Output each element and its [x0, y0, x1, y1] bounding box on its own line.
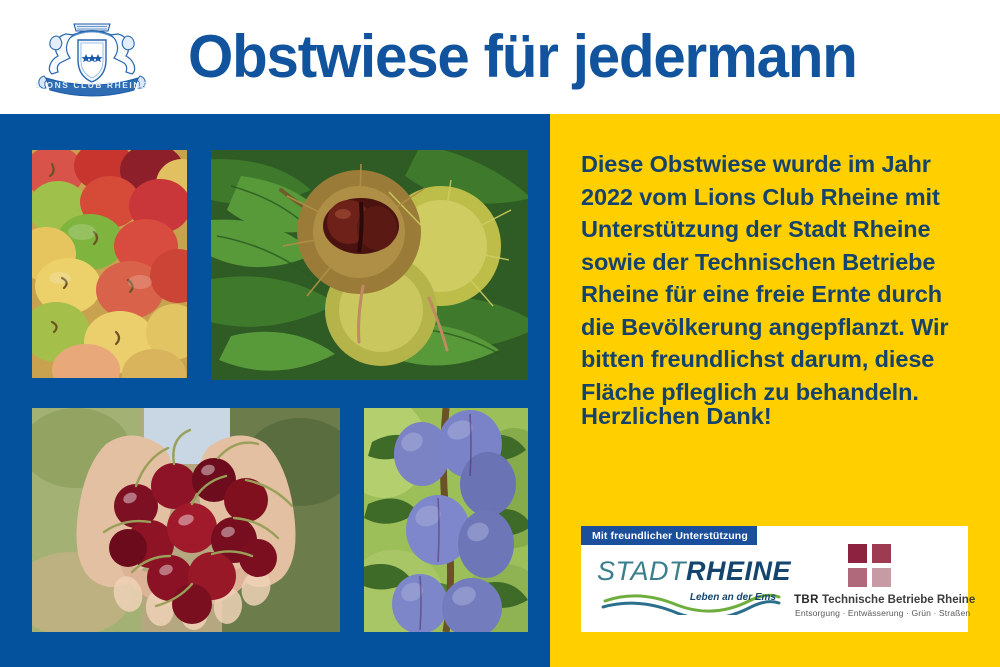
photo-plums: [364, 408, 528, 632]
notice-text: Diese Obstwiese wurde im Jahr 2022 vom L…: [581, 148, 949, 408]
tbr-logo[interactable]: TBR Technische Betriebe Rheine Entsorgun…: [794, 544, 964, 619]
tbr-abbr: TBR: [794, 594, 819, 606]
photo-apples: [32, 150, 187, 378]
four-squares-icon: [848, 544, 892, 588]
tbr-name-line: TBR Technische Betriebe Rheine: [794, 594, 975, 606]
square-top-left: [848, 544, 867, 563]
tbr-subtitle: Entsorgung · Entwässerung · Grün · Straß…: [795, 608, 970, 618]
photo-chestnut: [211, 150, 528, 380]
stadt-word-stadt: STADT: [597, 556, 686, 586]
sponsor-tag-label: Mit freundlicher Unterstützung: [581, 526, 757, 545]
square-top-right: [872, 544, 891, 563]
sponsor-box: Mit freundlicher Unterstützung STADTRHEI…: [581, 526, 968, 632]
thanks-text: Herzlichen Dank!: [581, 400, 772, 433]
stadt-word-rheine: RHEINE: [686, 556, 791, 586]
tbr-full-name: Technische Betriebe Rheine: [822, 594, 975, 606]
lions-club-crest-icon: LIONS CLUB RHEINE: [22, 14, 162, 102]
square-bottom-right: [872, 568, 891, 587]
stadt-rheine-logo[interactable]: STADTRHEINE Leben an der Ems: [597, 554, 782, 616]
stadt-rheine-wordmark: STADTRHEINE: [597, 556, 791, 587]
poster-header: LIONS CLUB RHEINE Obstwiese für jederman…: [0, 0, 1000, 114]
stadt-rheine-tagline: Leben an der Ems: [690, 592, 776, 603]
square-bottom-left: [848, 568, 867, 587]
crest-ribbon-text: LIONS CLUB RHEINE: [36, 80, 148, 90]
poster: LIONS CLUB RHEINE Obstwiese für jederman…: [0, 0, 1000, 667]
page-title: Obstwiese für jedermann: [188, 27, 857, 87]
photo-cherries: [32, 408, 340, 632]
